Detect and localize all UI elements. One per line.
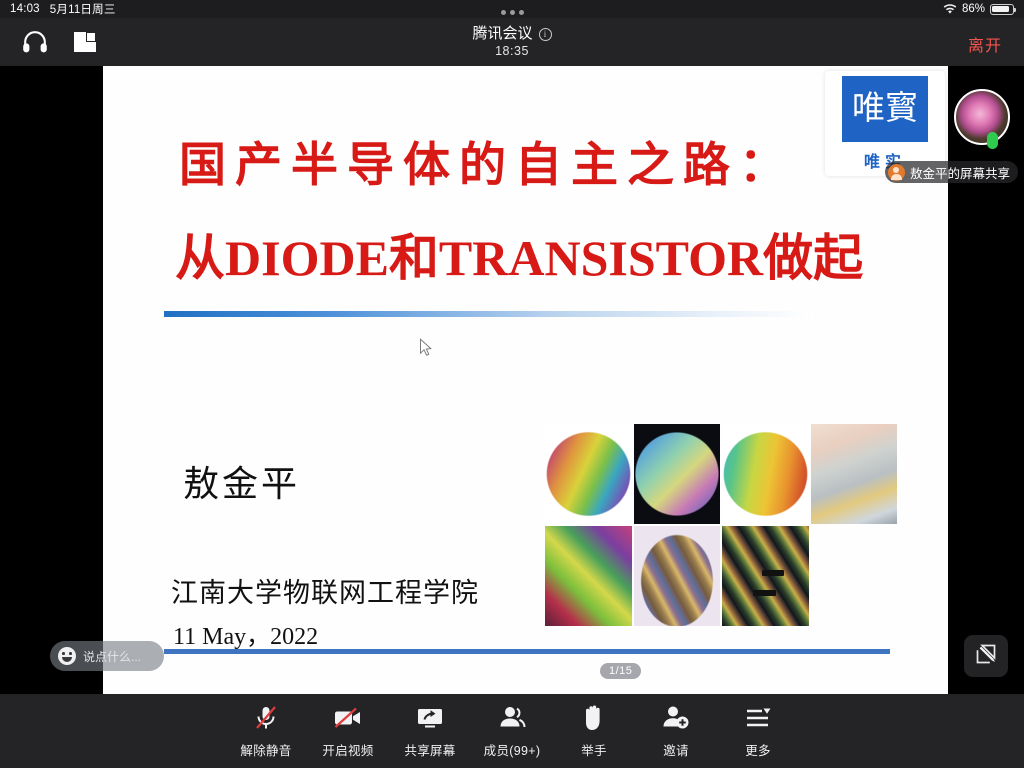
toolbar-item-invite[interactable]: 邀请 (635, 703, 717, 759)
wafer-photo-3 (722, 424, 809, 524)
shared-screen-stage[interactable]: 国产半导体的自主之路： 从DIODE和TRANSISTOR做起 敖金平 江南大学… (0, 66, 1024, 694)
slide-date: 11 May，2022 (173, 616, 318, 651)
wafer-photo-7 (722, 526, 809, 626)
more-menu-icon (743, 703, 773, 733)
chat-input-placeholder[interactable]: 说点什么... (83, 648, 141, 665)
shared-slide: 国产半导体的自主之路： 从DIODE和TRANSISTOR做起 敖金平 江南大学… (103, 66, 948, 694)
status-date: 5月11日周三 (50, 1, 116, 17)
meeting-bottom-toolbar: 解除静音 开启视频 共享屏幕 (0, 694, 1024, 768)
presenter-badge-avatar-icon (888, 164, 905, 181)
status-bar-left: 14:03 5月11日周三 (10, 1, 116, 17)
seal-logo-text: 唯寳 (842, 76, 928, 142)
microphone-muted-icon (251, 703, 281, 733)
slide-page-indicator: 1/15 (600, 663, 641, 679)
meeting-title: 腾讯会议 (472, 26, 532, 43)
wafer-photo-2 (634, 424, 721, 524)
toolbar-item-more[interactable]: 更多 (717, 703, 799, 759)
drag-handle-dots[interactable] (501, 10, 524, 15)
wafer-photo-6 (634, 526, 721, 626)
raise-hand-icon (580, 703, 608, 733)
toolbar-label-invite: 邀请 (663, 740, 689, 759)
meeting-app-window: 14:03 5月11日周三 86% (0, 0, 1024, 768)
toolbar-label-more: 更多 (745, 740, 771, 759)
microphone-active-indicator (987, 132, 998, 149)
system-status-bar: 14:03 5月11日周三 86% (0, 0, 1024, 18)
presenter-avatar[interactable] (954, 89, 1010, 145)
battery-percent: 86% (962, 3, 985, 15)
toolbar-item-unmute[interactable]: 解除静音 (225, 703, 307, 759)
wafer-photo-5 (545, 526, 632, 626)
status-time: 14:03 (10, 3, 40, 15)
info-icon[interactable]: i (539, 28, 552, 41)
toolbar-label-start-video: 开启视频 (322, 740, 373, 759)
meeting-title-block: 腾讯会议 i 18:35 (0, 18, 1024, 66)
mouse-cursor (419, 338, 433, 362)
slide-title-line2: 从DIODE和TRANSISTOR做起 (175, 218, 863, 290)
chat-input-bar[interactable]: 说点什么... (50, 641, 164, 671)
leave-meeting-button[interactable]: 离开 (968, 32, 1002, 56)
slide-title-line1: 国产半导体的自主之路： (179, 126, 795, 195)
toolbar-label-raise-hand: 举手 (581, 740, 607, 759)
battery-icon (990, 4, 1014, 15)
camera-off-icon (332, 703, 364, 733)
screen-share-badge: 敖金平的屏幕共享 (885, 161, 1018, 183)
status-bar-right: 86% (943, 3, 1014, 15)
slide-author: 敖金平 (183, 455, 300, 507)
screen-share-label: 敖金平的屏幕共享 (910, 163, 1010, 182)
emoji-icon[interactable] (58, 647, 76, 665)
toolbar-item-start-video[interactable]: 开启视频 (307, 703, 389, 759)
share-screen-icon (415, 703, 445, 733)
wafer-photo-grid (545, 424, 897, 624)
toolbar-item-share-screen[interactable]: 共享屏幕 (389, 703, 471, 759)
toolbar-label-participants: 成员(99+) (484, 740, 541, 759)
invite-person-icon (661, 703, 691, 733)
slide-gradient-rule (164, 311, 814, 317)
slide-affiliation: 江南大学物联网工程学院 (171, 571, 479, 610)
annotate-button[interactable] (964, 635, 1008, 677)
wafer-photo-4 (811, 424, 898, 524)
toolbar-label-unmute: 解除静音 (240, 740, 291, 759)
wifi-icon (943, 4, 957, 15)
wafer-photo-1 (545, 424, 632, 524)
slide-blue-rule (164, 649, 890, 654)
participants-icon (497, 703, 527, 733)
pencil-annotate-icon (974, 642, 998, 671)
meeting-title-row: 腾讯会议 i (472, 26, 551, 43)
toolbar-label-share-screen: 共享屏幕 (404, 740, 455, 759)
meeting-elapsed-time: 18:35 (495, 44, 529, 58)
toolbar-item-raise-hand[interactable]: 举手 (553, 703, 635, 759)
toolbar-item-participants[interactable]: 成员(99+) (471, 703, 553, 759)
meeting-top-bar: 腾讯会议 i 18:35 离开 (0, 18, 1024, 66)
